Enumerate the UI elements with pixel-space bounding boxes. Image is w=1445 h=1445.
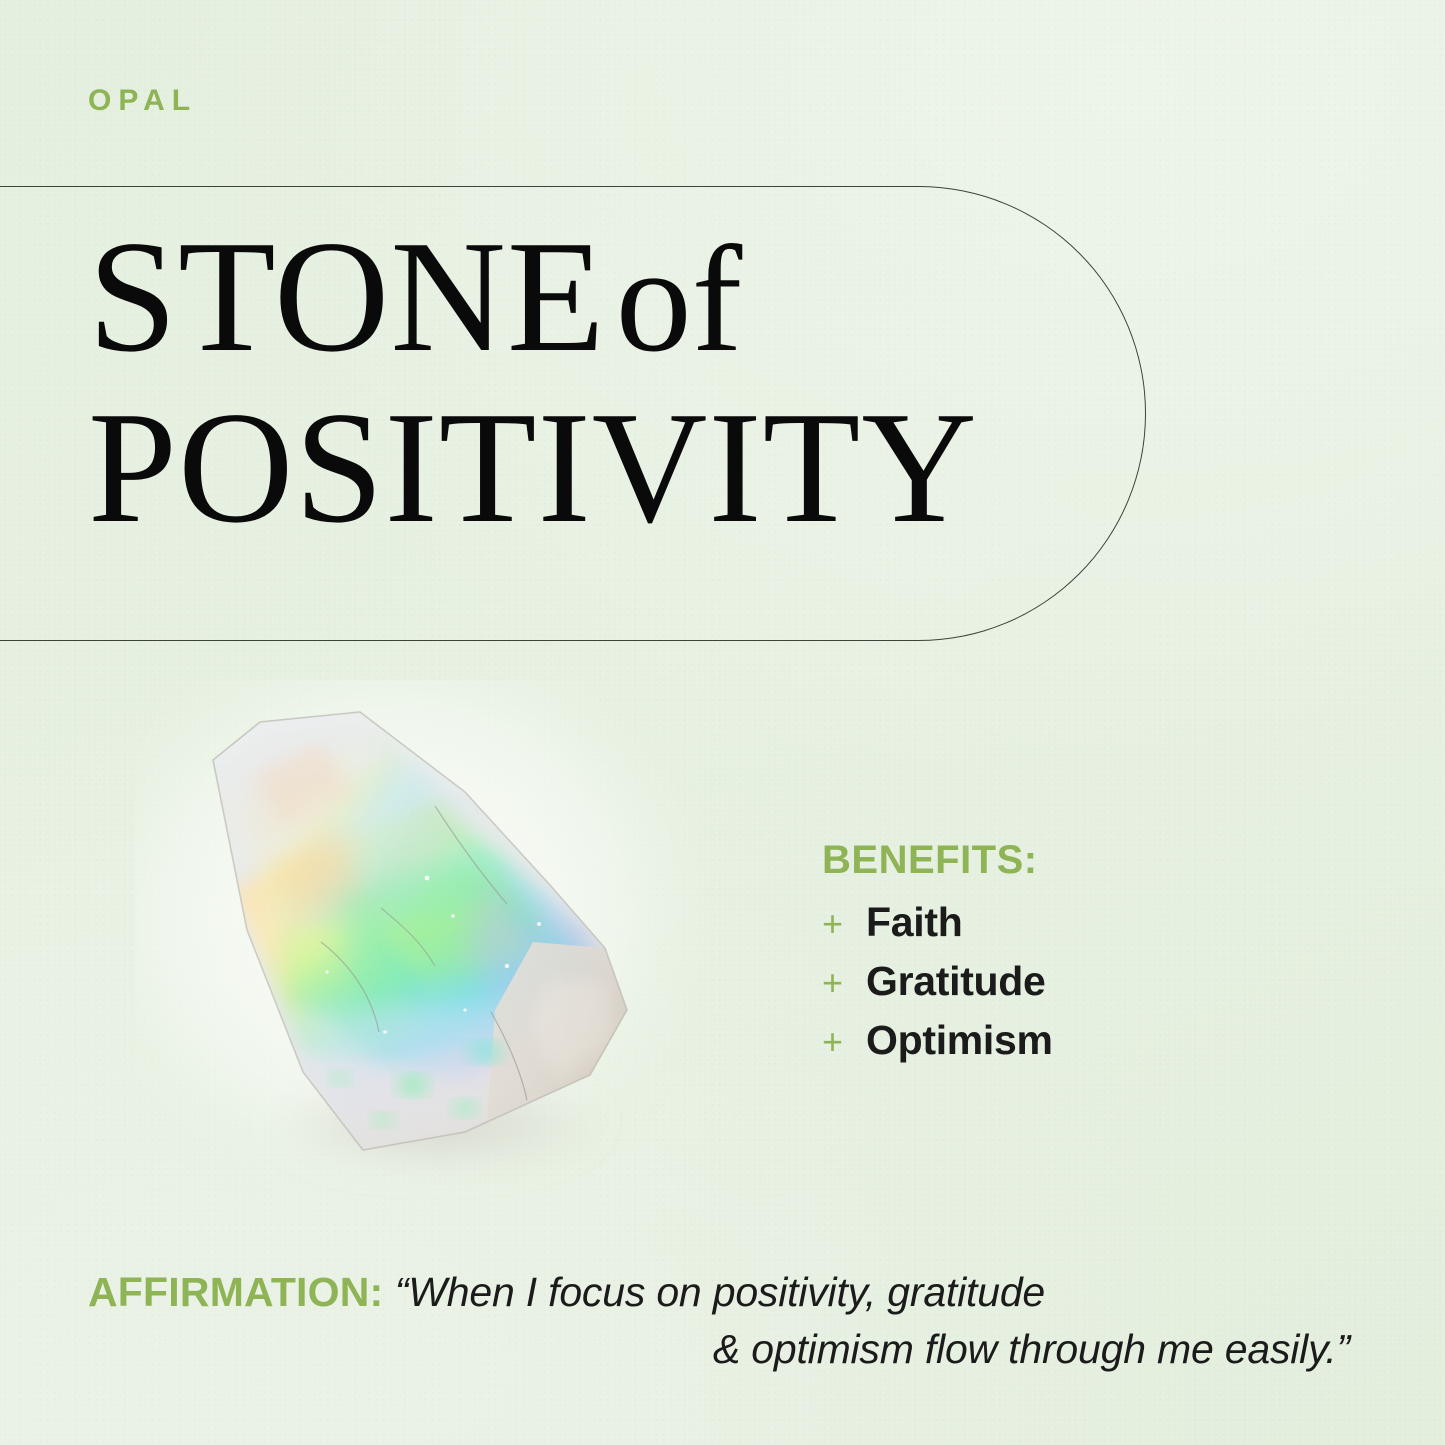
opal-stone-image	[135, 680, 705, 1200]
plus-icon: +	[822, 1021, 866, 1063]
poster-canvas: OPAL STONEof POSITIVITY	[0, 0, 1445, 1445]
list-item: + Optimism	[822, 1017, 1053, 1064]
benefits-heading: BENEFITS:	[822, 838, 1053, 883]
affirmation-line-1: AFFIRMATION: “When I focus on positivity…	[88, 1264, 1368, 1321]
benefit-label-optimism: Optimism	[866, 1017, 1053, 1064]
affirmation-quote-line-2: & optimism flow through me easily.”	[713, 1326, 1350, 1372]
affirmation-line-2: & optimism flow through me easily.”	[88, 1321, 1368, 1378]
benefit-label-gratitude: Gratitude	[866, 958, 1046, 1005]
benefits-block: BENEFITS: + Faith + Gratitude + Optimism	[822, 838, 1053, 1076]
affirmation-label: AFFIRMATION:	[88, 1269, 383, 1315]
affirmation-quote-line-1: “When I focus on positivity, gratitude	[395, 1269, 1045, 1315]
page-title-line-1: STONEof	[88, 222, 1048, 371]
affirmation-block: AFFIRMATION: “When I focus on positivity…	[88, 1264, 1368, 1377]
page-title-word-of: of	[606, 215, 743, 383]
plus-icon: +	[822, 903, 866, 945]
page-title: STONEof POSITIVITY	[88, 222, 1048, 542]
page-title-word-stone: STONE	[88, 207, 606, 385]
plus-icon: +	[822, 962, 866, 1004]
benefits-list: + Faith + Gratitude + Optimism	[822, 899, 1053, 1064]
list-item: + Faith	[822, 899, 1053, 946]
stone-name-eyebrow: OPAL	[88, 84, 197, 118]
benefit-label-faith: Faith	[866, 899, 962, 946]
page-title-line-2: POSITIVITY	[88, 393, 1048, 542]
list-item: + Gratitude	[822, 958, 1053, 1005]
